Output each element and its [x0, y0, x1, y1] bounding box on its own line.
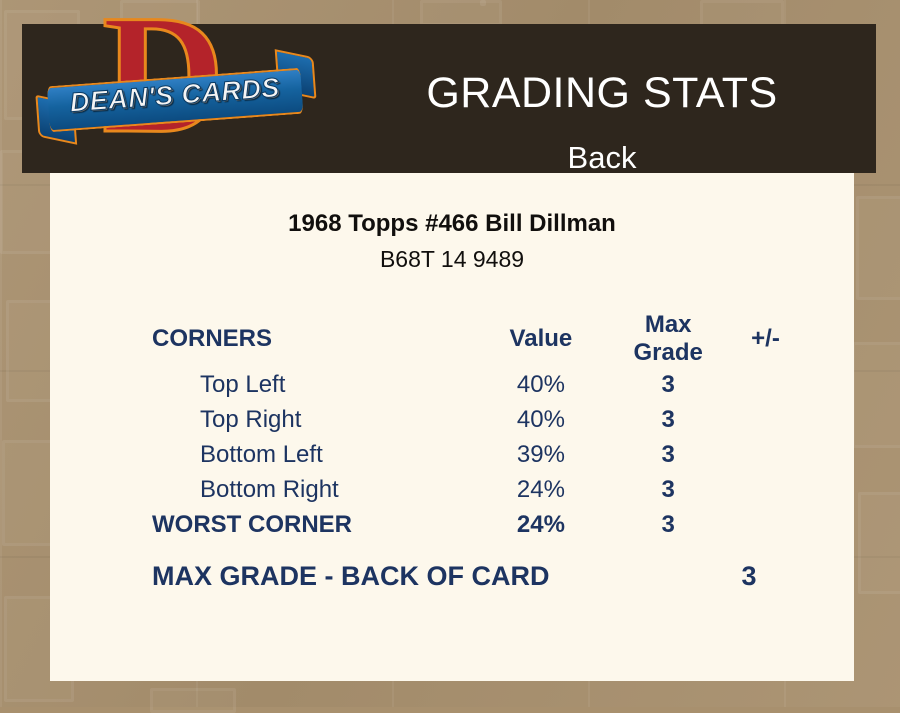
column-header-max-grade: Max Grade: [607, 311, 729, 367]
watermark-card: [858, 492, 900, 594]
watermark-card: [856, 196, 900, 300]
card-serial: B68T 14 9489: [50, 246, 854, 273]
logo-ribbon: DEAN'S CARDS: [47, 65, 304, 131]
corner-value: 39%: [474, 437, 607, 472]
card-title: 1968 Topps #466 Bill Dillman: [50, 210, 854, 238]
corner-value: 40%: [474, 402, 607, 437]
worst-corner-max-grade: 3: [607, 507, 729, 542]
table-header-row: CORNERS Value Max Grade +/-: [142, 311, 802, 367]
final-max-grade-value: 3: [684, 561, 814, 592]
corner-plusminus: [729, 402, 802, 437]
deans-cards-logo[interactable]: D DEAN'S CARDS: [44, 26, 306, 171]
corner-plusminus: [729, 367, 802, 402]
corner-value: 40%: [474, 367, 607, 402]
watermark-card: [420, 0, 502, 26]
corners-stats-table: CORNERS Value Max Grade +/- Top Left 40%…: [142, 311, 802, 542]
corner-label: Top Left: [142, 367, 474, 402]
corner-plusminus: [729, 437, 802, 472]
table-row: Top Right 40% 3: [142, 402, 802, 437]
corner-max-grade: 3: [607, 437, 729, 472]
table-row: Top Left 40% 3: [142, 367, 802, 402]
corner-plusminus: [729, 472, 802, 507]
worst-corner-row: WORST CORNER 24% 3: [142, 507, 802, 542]
corner-label: Top Right: [142, 402, 474, 437]
corner-label: Bottom Right: [142, 472, 474, 507]
watermark-card: [150, 688, 236, 713]
watermark-card: [852, 342, 900, 448]
content-panel: 1968 Topps #466 Bill Dillman B68T 14 948…: [50, 173, 854, 681]
worst-corner-plusminus: [729, 507, 802, 542]
column-header-corners: CORNERS: [142, 311, 474, 367]
corner-max-grade: 3: [607, 367, 729, 402]
corner-value: 24%: [474, 472, 607, 507]
corner-max-grade: 3: [607, 472, 729, 507]
worst-corner-label: WORST CORNER: [142, 507, 474, 542]
table-row: Bottom Right 24% 3: [142, 472, 802, 507]
worst-corner-value: 24%: [474, 507, 607, 542]
final-max-grade-row: MAX GRADE - BACK OF CARD 3: [142, 561, 802, 601]
final-max-grade-label: MAX GRADE - BACK OF CARD: [152, 561, 550, 592]
corner-max-grade: 3: [607, 402, 729, 437]
stats-table-body: CORNERS Value Max Grade +/- Top Left 40%…: [142, 311, 802, 542]
page-subtitle: Back: [322, 142, 882, 173]
page-title: GRADING STATS: [322, 72, 882, 115]
watermark-card: [480, 0, 486, 6]
column-header-plusminus: +/-: [729, 311, 802, 367]
header-bar: D DEAN'S CARDS GRADING STATS Back: [22, 24, 876, 173]
table-row: Bottom Left 39% 3: [142, 437, 802, 472]
corner-label: Bottom Left: [142, 437, 474, 472]
column-header-value: Value: [474, 311, 607, 367]
